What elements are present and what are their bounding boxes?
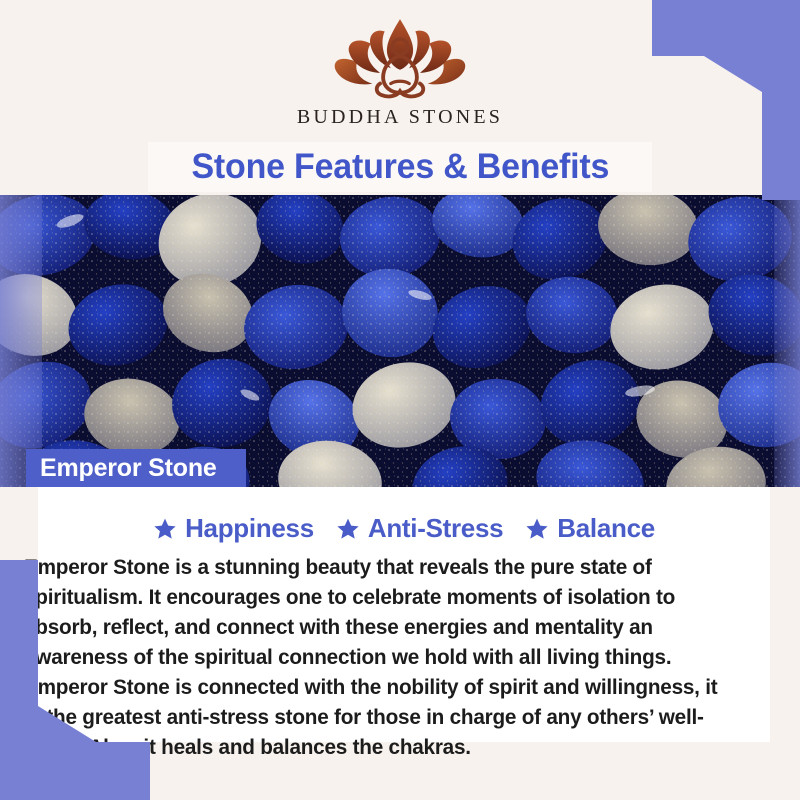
description-paragraph-1: Emperor Stone is a stunning beauty that … — [24, 552, 732, 672]
brand-name: BUDDHA STONES — [297, 106, 503, 129]
benefit-item-anti-stress: Anti-Stress — [336, 513, 503, 544]
lotus-meditation-icon — [322, 16, 478, 102]
star-icon — [153, 517, 177, 541]
description-card: Happiness Anti-Stress Balance Emperor St… — [38, 487, 770, 742]
stone-name-badge: Emperor Stone — [26, 449, 246, 487]
title-banner: Stone Features & Benefits — [148, 142, 652, 192]
photo-right-blue-overlay — [774, 195, 800, 487]
description-paragraphs: Emperor Stone is a stunning beauty that … — [24, 552, 770, 762]
benefit-item-balance: Balance — [525, 513, 655, 544]
brand-logo-block: BUDDHA STONES — [0, 16, 800, 129]
star-icon — [336, 517, 360, 541]
stone-name-label: Emperor Stone — [26, 454, 217, 483]
benefits-list: Happiness Anti-Stress Balance — [38, 513, 770, 544]
benefit-item-happiness: Happiness — [153, 513, 314, 544]
description-paragraph-2: Emperor Stone is connected with the nobi… — [24, 672, 732, 762]
photo-left-blue-overlay — [0, 195, 42, 487]
star-icon — [525, 517, 549, 541]
benefit-label: Happiness — [185, 513, 314, 544]
header-section: BUDDHA STONES Stone Features & Benefits — [0, 0, 800, 195]
poster-root: BUDDHA STONES Stone Features & Benefits — [0, 0, 800, 800]
lapis-lazuli-stones-image — [0, 195, 800, 487]
page-title: Stone Features & Benefits — [191, 147, 609, 187]
benefit-label: Balance — [557, 513, 655, 544]
benefit-label: Anti-Stress — [368, 513, 503, 544]
stone-photo-band: Emperor Stone — [0, 195, 800, 487]
